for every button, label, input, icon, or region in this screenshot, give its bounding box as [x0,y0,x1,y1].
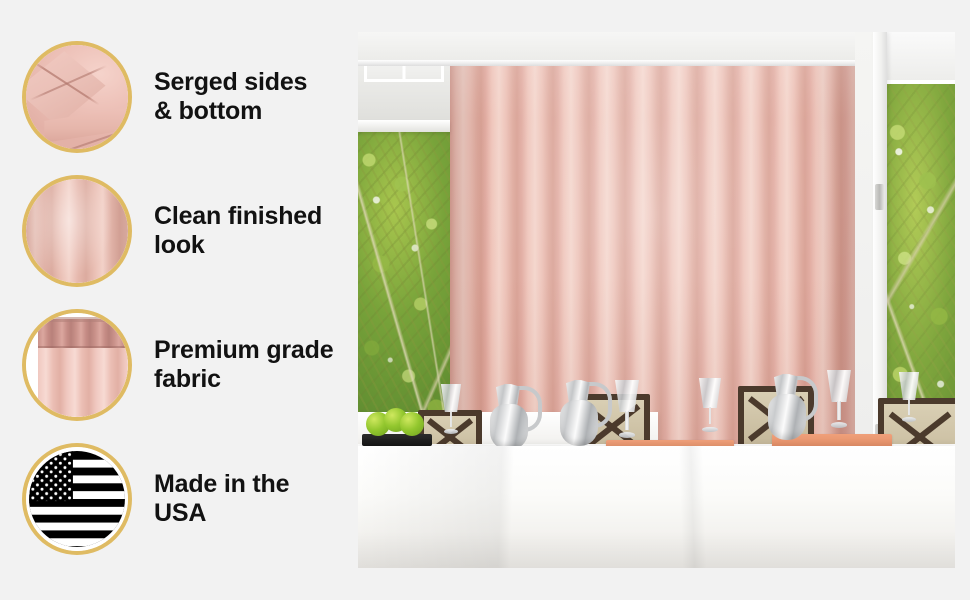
feature-label: Clean finished look [154,202,322,261]
silver-pitcher [484,380,538,450]
feature-item-made-in-usa: Made in the USA [22,443,289,555]
folded-fabric-corner-icon [22,41,132,153]
crystal-goblet [614,380,640,438]
feature-label: Made in the USA [154,470,289,529]
feature-label: Premium grade fabric [154,336,333,395]
crystal-goblet [698,378,722,432]
draped-fabric-folds-icon [22,175,132,287]
feature-item-premium-grade-fabric: Premium grade fabric [22,309,333,421]
crystal-goblet [898,372,920,422]
silver-pitcher [554,374,608,446]
crystal-goblet [440,384,462,434]
usa-flag-roundel-icon [22,443,132,555]
product-photo [358,32,955,568]
banquet-table-front-linen [358,446,955,568]
product-infographic: Serged sides & bottom Clean finished loo… [0,0,970,600]
curtain-rod-pocket-icon [22,309,132,421]
window-hinge-icon [875,184,884,210]
silver-pitcher [762,372,814,440]
feature-list: Serged sides & bottom Clean finished loo… [0,0,352,600]
feature-label: Serged sides & bottom [154,68,307,127]
crystal-goblet [826,370,852,428]
green-apples-tray [366,410,424,436]
feature-item-clean-finished-look: Clean finished look [22,175,322,287]
feature-item-serged-sides: Serged sides & bottom [22,41,307,153]
